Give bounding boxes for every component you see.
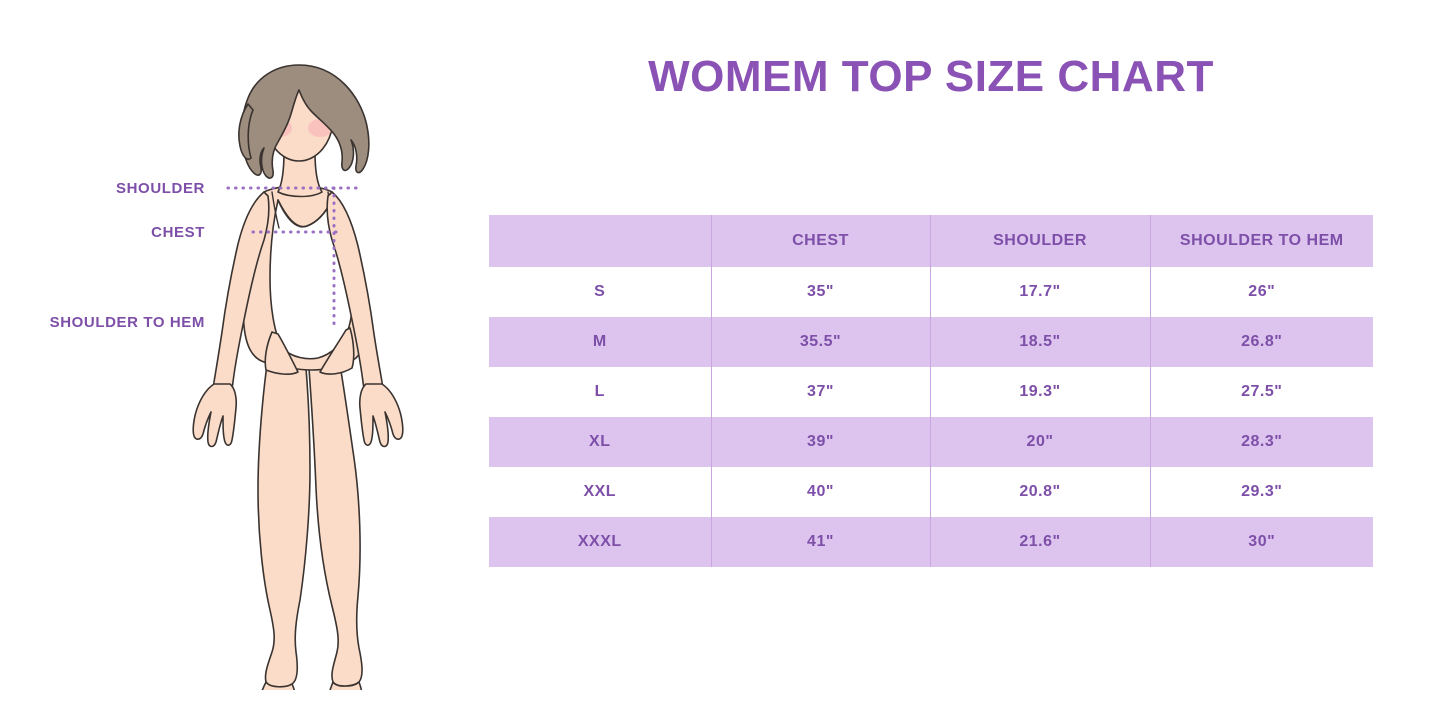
female-figure-illustration bbox=[160, 40, 440, 690]
table-body: S 35" 17.7" 26" M 35.5" 18.5" 26.8" L 37… bbox=[489, 267, 1373, 567]
table-row: XL 39" 20" 28.3" bbox=[489, 417, 1373, 467]
cell-shoulder-to-hem: 26.8" bbox=[1150, 317, 1373, 367]
cell-chest: 40" bbox=[711, 467, 930, 517]
table-row: L 37" 19.3" 27.5" bbox=[489, 367, 1373, 417]
size-chart-table-container: CHEST SHOULDER SHOULDER TO HEM S 35" 17.… bbox=[489, 215, 1373, 570]
cell-size: L bbox=[489, 367, 711, 417]
cell-size: XXL bbox=[489, 467, 711, 517]
table-row: M 35.5" 18.5" 26.8" bbox=[489, 317, 1373, 367]
cell-shoulder-to-hem: 29.3" bbox=[1150, 467, 1373, 517]
cell-shoulder-to-hem: 30" bbox=[1150, 517, 1373, 567]
right-leg-shape bbox=[306, 328, 362, 686]
left-leg-shape bbox=[258, 328, 310, 687]
table-row: S 35" 17.7" 26" bbox=[489, 267, 1373, 317]
cell-chest: 37" bbox=[711, 367, 930, 417]
column-header-chest: CHEST bbox=[711, 215, 930, 267]
left-hand-shape bbox=[193, 384, 236, 447]
cell-shoulder: 20.8" bbox=[930, 467, 1150, 517]
cell-size: S bbox=[489, 267, 711, 317]
column-header-shoulder-to-hem: SHOULDER TO HEM bbox=[1150, 215, 1373, 267]
cell-chest: 39" bbox=[711, 417, 930, 467]
cell-shoulder: 19.3" bbox=[930, 367, 1150, 417]
cell-size: XL bbox=[489, 417, 711, 467]
figure-body-group bbox=[193, 65, 403, 690]
cell-shoulder: 17.7" bbox=[930, 267, 1150, 317]
cell-shoulder-to-hem: 28.3" bbox=[1150, 417, 1373, 467]
cell-shoulder: 21.6" bbox=[930, 517, 1150, 567]
cell-shoulder-to-hem: 27.5" bbox=[1150, 367, 1373, 417]
cell-shoulder: 18.5" bbox=[930, 317, 1150, 367]
table-row: XXL 40" 20.8" 29.3" bbox=[489, 467, 1373, 517]
cell-size: M bbox=[489, 317, 711, 367]
column-header-shoulder: SHOULDER bbox=[930, 215, 1150, 267]
cell-shoulder: 20" bbox=[930, 417, 1150, 467]
cell-shoulder-to-hem: 26" bbox=[1150, 267, 1373, 317]
cell-chest: 41" bbox=[711, 517, 930, 567]
table-header: CHEST SHOULDER SHOULDER TO HEM bbox=[489, 215, 1373, 267]
table-row: XXXL 41" 21.6" 30" bbox=[489, 517, 1373, 567]
cell-chest: 35.5" bbox=[711, 317, 930, 367]
cell-chest: 35" bbox=[711, 267, 930, 317]
cell-size: XXXL bbox=[489, 517, 711, 567]
page-title: WOMEM TOP SIZE CHART bbox=[489, 52, 1373, 102]
column-header-size bbox=[489, 215, 711, 267]
right-hand-shape bbox=[360, 384, 403, 447]
size-chart-table: CHEST SHOULDER SHOULDER TO HEM S 35" 17.… bbox=[489, 215, 1373, 567]
table-header-row: CHEST SHOULDER SHOULDER TO HEM bbox=[489, 215, 1373, 267]
